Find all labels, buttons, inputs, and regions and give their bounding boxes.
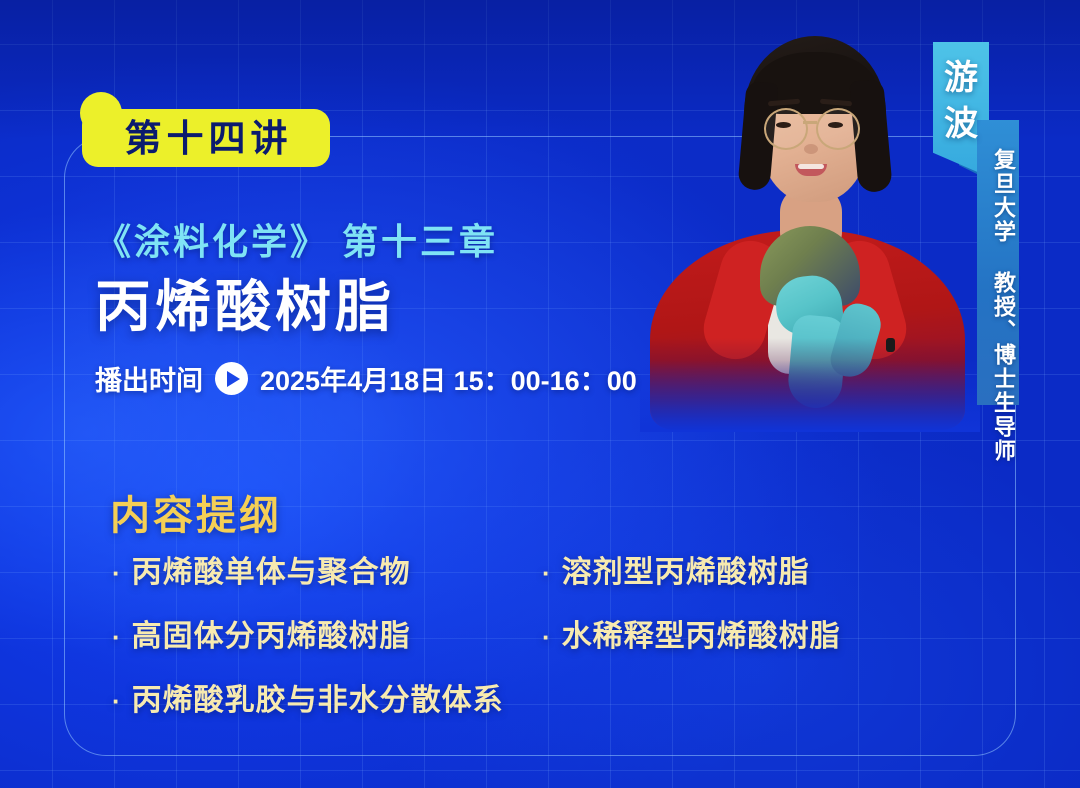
series-chapter-label: 《涂料化学》 第十三章: [95, 222, 637, 262]
outline-columns: · 丙烯酸单体与聚合物 · 高固体分丙烯酸树脂 · 丙烯酸乳胶与非水分散体系 ·…: [112, 558, 912, 750]
bullet-icon: ·: [112, 688, 122, 714]
portrait-eye-right: [828, 122, 843, 128]
bullet-icon: ·: [112, 624, 122, 650]
glasses-bridge-icon: [803, 121, 817, 124]
glasses-lens-left-icon: [764, 108, 808, 150]
play-icon[interactable]: [215, 362, 248, 395]
outline-column-left: · 丙烯酸单体与聚合物 · 高固体分丙烯酸树脂 · 丙烯酸乳胶与非水分散体系: [112, 558, 542, 750]
list-item: · 水稀释型丙烯酸树脂: [542, 622, 912, 652]
list-item-label: 水稀释型丙烯酸树脂: [562, 622, 841, 652]
lecture-number-label: 第十四讲: [120, 120, 293, 157]
portrait-teeth: [798, 164, 824, 169]
list-item-label: 丙烯酸乳胶与非水分散体系: [132, 686, 504, 716]
headline-block: 《涂料化学》 第十三章 丙烯酸树脂 播出时间 2025年4月18日 15：00-…: [95, 222, 637, 398]
list-item: · 丙烯酸单体与聚合物: [112, 558, 542, 588]
list-item: · 丙烯酸乳胶与非水分散体系: [112, 686, 542, 716]
list-item: · 溶剂型丙烯酸树脂: [542, 558, 912, 588]
portrait-nose: [804, 144, 818, 154]
speaker-portrait: [640, 8, 970, 420]
lecture-number-pill: 第十四讲: [82, 109, 330, 167]
airtime-row: 播出时间 2025年4月18日 15：00-16：00: [95, 359, 637, 398]
speaker-name: 游波: [938, 56, 984, 148]
airtime-value: 2025年4月18日 15：00-16：00: [260, 359, 637, 398]
list-item-label: 丙烯酸单体与聚合物: [132, 558, 411, 588]
speaker-credentials: 复旦大学 教授、博士生导师: [980, 148, 1016, 463]
list-item-label: 高固体分丙烯酸树脂: [132, 622, 411, 652]
page-title: 丙烯酸树脂: [95, 276, 637, 338]
portrait-bottom-fade: [640, 360, 980, 432]
bullet-icon: ·: [112, 560, 122, 586]
glasses-lens-right-icon: [816, 108, 860, 150]
bullet-icon: ·: [542, 624, 552, 650]
lapel-microphone-icon: [886, 338, 895, 352]
list-item-label: 溶剂型丙烯酸树脂: [562, 558, 810, 588]
bullet-icon: ·: [542, 560, 552, 586]
list-item: · 高固体分丙烯酸树脂: [112, 622, 542, 652]
lecture-poster: 游波 复旦大学 教授、博士生导师 第十四讲 《涂料化学》 第十三章 丙烯酸树脂 …: [0, 0, 1080, 788]
airtime-label: 播出时间: [95, 359, 203, 398]
outline-heading: 内容提纲: [110, 483, 282, 541]
portrait-eye-left: [776, 122, 791, 128]
outline-column-right: · 溶剂型丙烯酸树脂 · 水稀释型丙烯酸树脂: [542, 558, 912, 750]
